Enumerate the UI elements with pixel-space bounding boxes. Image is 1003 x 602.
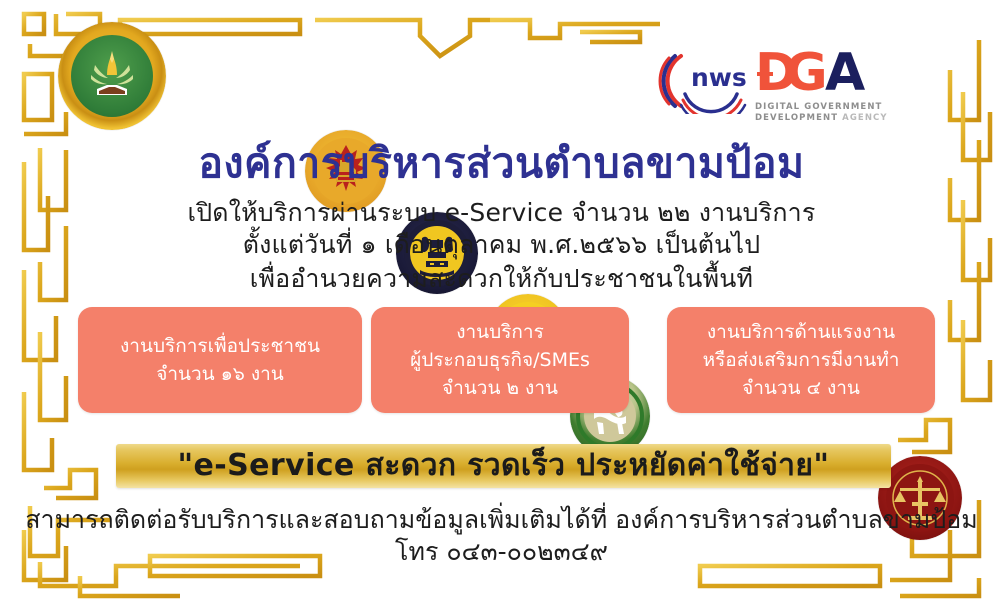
contact-line-1: สามารถติดต่อรับบริการและสอบถามข้อมูลเพิ่… [0,504,1003,536]
service-card-business-sme[interactable]: งานบริการ ผู้ประกอบธุรกิจ/SMEs จำนวน ๒ ง… [371,307,629,413]
e-service-announcement-banner: nws D G A DIGITAL GOVERNMENT DEVELOPMENT… [0,0,1003,602]
logo-row: nws D G A DIGITAL GOVERNMENT DEVELOPMENT… [0,22,1003,134]
slogan-banner-bar: "e-Service สะดวก รวดเร็ว ประหยัดค่าใช้จ่… [116,444,891,488]
subtitle-line-2: ตั้งแต่วันที่ ๑ เดือนตุลาคม พ.ศ.๒๕๖๖ เป็… [0,228,1003,261]
slogan-text: "e-Service สะดวก รวดเร็ว ประหยัดค่าใช้จ่… [178,448,830,484]
svg-text:nws: nws [691,63,747,92]
dga-tagline: DIGITAL GOVERNMENT DEVELOPMENT AGENCY [755,102,890,124]
page-title: องค์การบริหารส่วนตำบลขามป้อม [0,138,1003,188]
dga-brand-mark-icon: D G A [755,44,890,102]
svg-text:G: G [785,44,828,102]
card-line: จำนวน ๔ งาน [742,374,860,402]
card-line: งานบริการ [456,318,544,346]
nws-logo: nws [655,48,753,114]
handshake-emblem-icon [81,45,143,107]
dga-tagline-line2a: DEVELOPMENT [755,113,842,123]
contact-phone-line: โทร ๐๔๓-๐๐๒๓๔๙ [0,536,1003,568]
service-category-cards: งานบริการเพื่อประชาชน จำนวน ๑๖ งาน งานบร… [0,307,1003,417]
subtitle-line-1: เปิดให้บริการผ่านระบบ e-Service จำนวน ๒๒… [0,196,1003,229]
service-card-citizen[interactable]: งานบริการเพื่อประชาชน จำนวน ๑๖ งาน [78,307,362,413]
card-line: ผู้ประกอบธุรกิจ/SMEs [410,346,590,374]
card-line: จำนวน ๑๖ งาน [156,360,284,388]
card-line: งานบริการเพื่อประชาชน [120,332,320,360]
subdistrict-administrative-organization-seal-logo [58,22,166,130]
card-line: หรือส่งเสริมการมีงานทำ [703,346,900,374]
nws-brand-mark-icon: nws [655,48,753,114]
service-card-labor[interactable]: งานบริการด้านแรงงาน หรือส่งเสริมการมีงาน… [667,307,935,413]
card-line: งานบริการด้านแรงงาน [707,318,895,346]
seal-inner-disc [71,35,153,117]
dga-tagline-line1: DIGITAL GOVERNMENT [755,102,882,112]
dga-tagline-line2b: AGENCY [842,113,887,123]
svg-text:A: A [825,44,865,102]
card-line: จำนวน ๒ งาน [442,374,558,402]
dga-logo: D G A DIGITAL GOVERNMENT DEVELOPMENT AGE… [755,44,890,130]
subtitle-line-3: เพื่ออำนวยความสะดวกให้กับประชาชนในพื้นที [0,262,1003,295]
